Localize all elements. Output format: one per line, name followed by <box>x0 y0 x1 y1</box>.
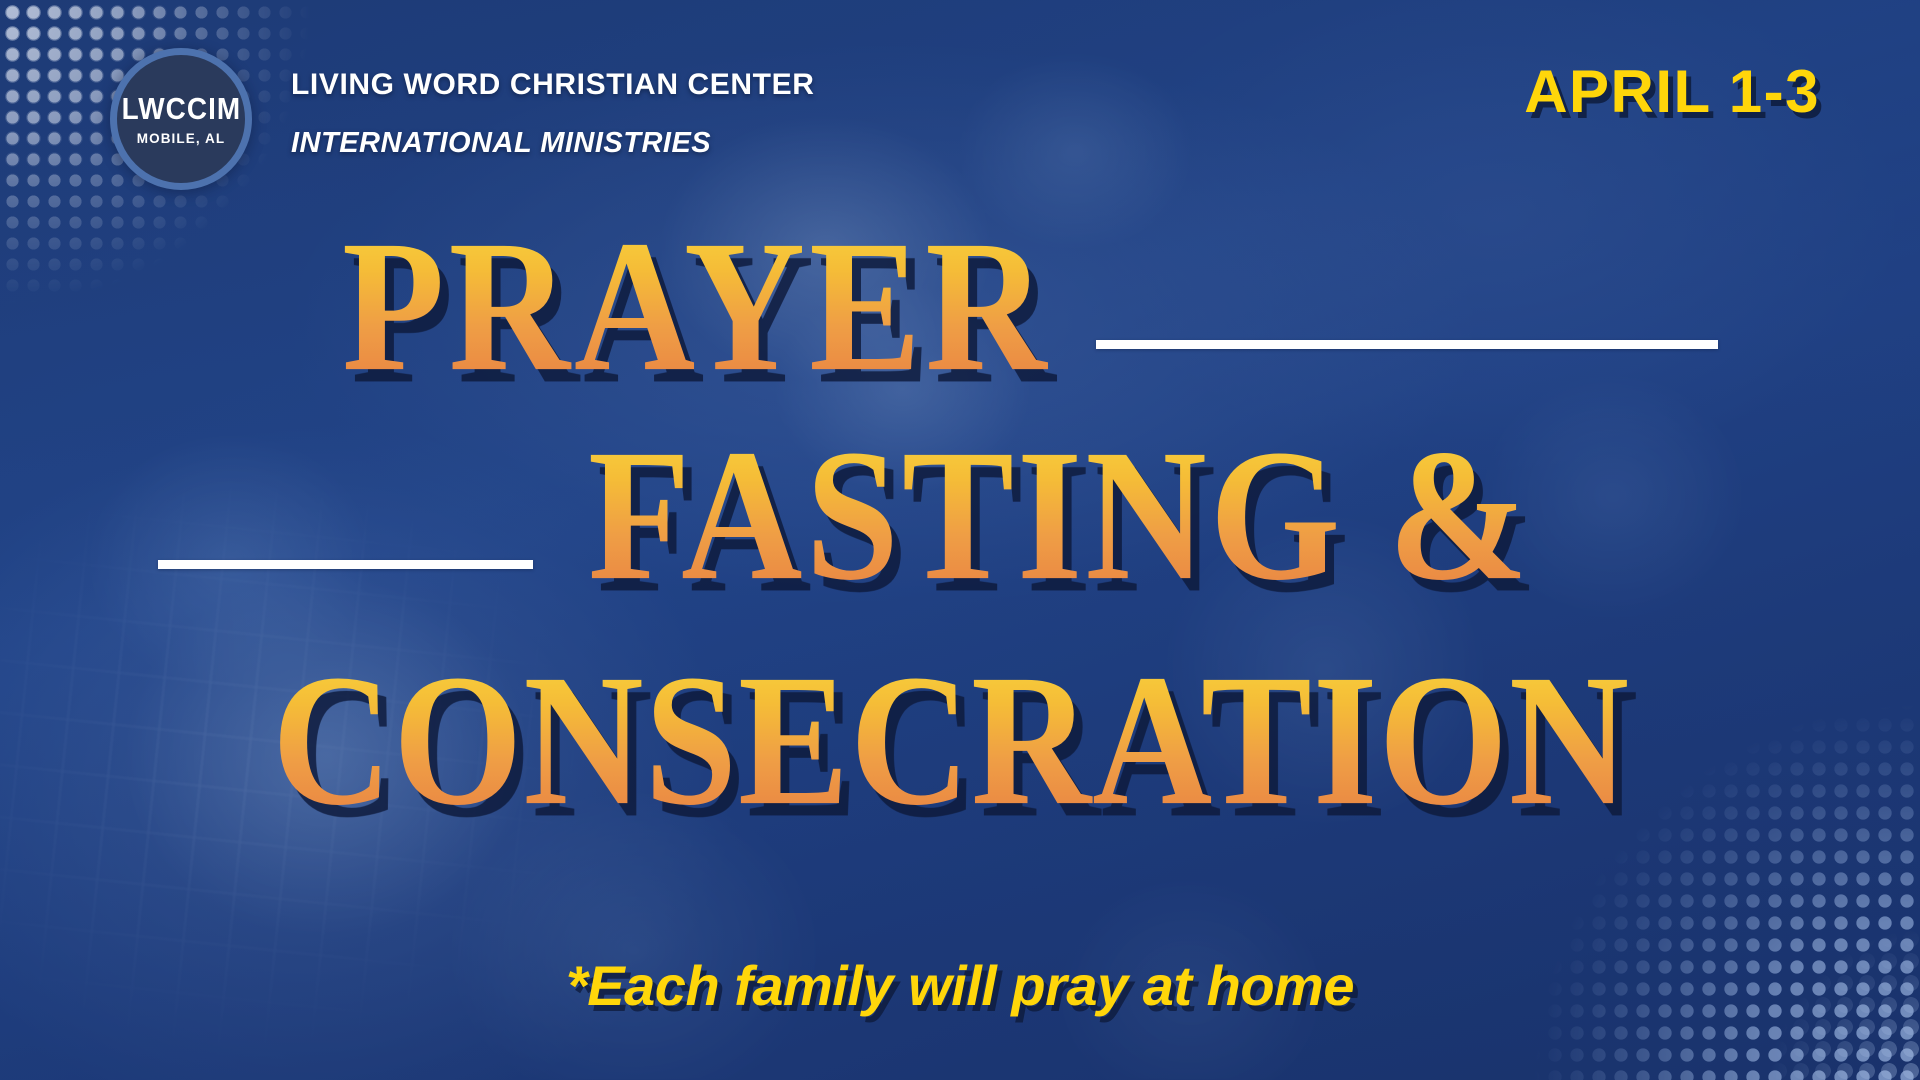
organization-subtitle: INTERNATIONAL MINISTRIES <box>291 129 711 158</box>
organization-name: LIVING WORD CHRISTIAN CENTER <box>291 70 814 100</box>
decorative-rule-right <box>1096 340 1718 349</box>
decorative-rule-left <box>158 560 533 569</box>
footnote-text: *Each family will pray at home <box>0 958 1920 1014</box>
title-line-prayer: PRAYER <box>342 228 1051 386</box>
event-flyer: LWCCIM MOBILE, AL LIVING WORD CHRISTIAN … <box>0 0 1920 1080</box>
logo-city: MOBILE, AL <box>137 132 226 146</box>
church-logo-badge: LWCCIM MOBILE, AL <box>110 48 252 190</box>
title-line-consecration: CONSECRATION <box>272 662 1630 820</box>
title-line-fasting: FASTING & <box>588 437 1531 595</box>
logo-initials: LWCCIM <box>121 93 241 124</box>
event-date: APRIL 1-3 <box>1524 62 1820 122</box>
